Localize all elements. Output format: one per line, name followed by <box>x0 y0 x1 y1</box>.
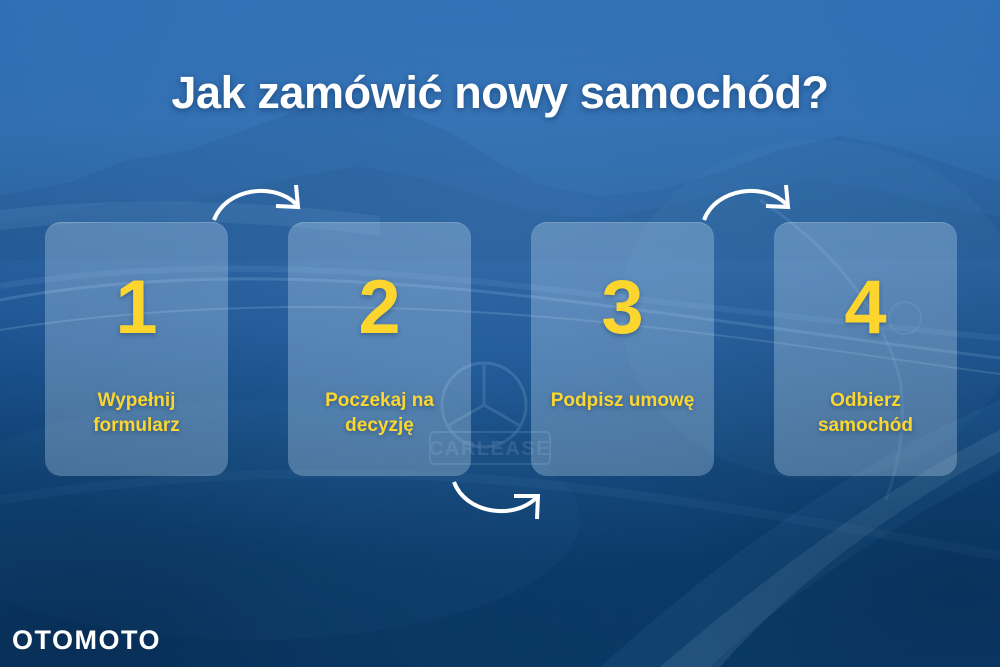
infographic-canvas: CARLEASE Jak zamówić nowy samochód? 1 Wy… <box>0 0 1000 667</box>
step-card-2[interactable]: 2 Poczekaj na decyzję <box>288 222 471 476</box>
page-title: Jak zamówić nowy samochód? <box>0 70 1000 115</box>
step-number: 4 <box>844 270 886 346</box>
step-label: Odbierz samochód <box>774 388 957 438</box>
step-number: 3 <box>601 270 643 346</box>
step-card-3[interactable]: 3 Podpisz umowę <box>531 222 714 476</box>
arrow-step3-to-step4-icon <box>702 180 798 224</box>
step-card-1[interactable]: 1 Wypełnij formularz <box>45 222 228 476</box>
arrow-step1-to-step2-icon <box>212 180 308 224</box>
step-label: Wypełnij formularz <box>45 388 228 438</box>
arrow-step2-to-step3-icon <box>452 478 548 522</box>
steps-container: 1 Wypełnij formularz 2 Poczekaj na decyz… <box>45 222 957 476</box>
step-card-4[interactable]: 4 Odbierz samochód <box>774 222 957 476</box>
step-label: Podpisz umowę <box>543 388 703 413</box>
step-number: 2 <box>358 270 400 346</box>
step-label: Poczekaj na decyzję <box>288 388 471 438</box>
otomoto-logo[interactable]: OTOMOTO <box>12 627 161 654</box>
step-number: 1 <box>115 270 157 346</box>
